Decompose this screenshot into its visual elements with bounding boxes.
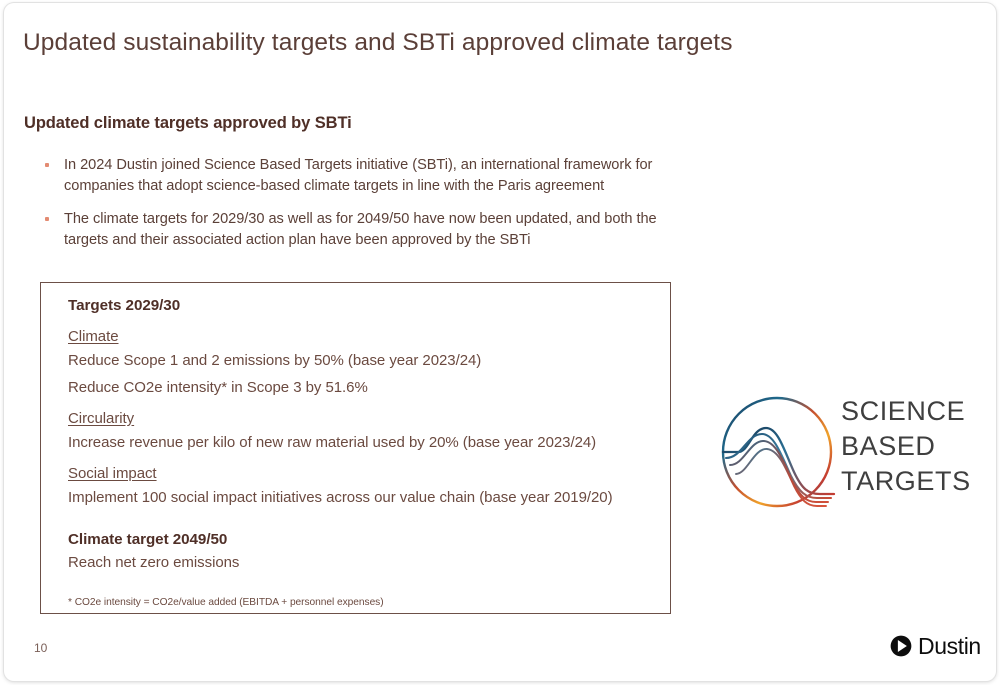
page-title: Updated sustainability targets and SBTi … (23, 29, 733, 57)
sbti-word-line-2: BASED (841, 429, 971, 464)
sbti-mark-icon (716, 388, 838, 516)
circularity-label: Circularity (68, 410, 134, 427)
social-impact-target-1: Implement 100 social impact initiatives … (68, 489, 660, 506)
page-number: 10 (34, 641, 47, 655)
targets-box-content: Targets 2029/30 Climate Reduce Scope 1 a… (68, 289, 660, 571)
bullet-list: In 2024 Dustin joined Science Based Targ… (42, 155, 682, 263)
social-impact-label: Social impact (68, 465, 157, 482)
sbti-wordmark: SCIENCE BASED TARGETS (841, 394, 971, 499)
long-term-target-heading: Climate target 2049/50 (68, 531, 660, 548)
long-term-target-1: Reach net zero emissions (68, 554, 660, 571)
dustin-wordmark: Dustin (918, 635, 981, 657)
bullet-text: In 2024 Dustin joined Science Based Targ… (64, 157, 652, 194)
bullet-text: The climate targets for 2029/30 as well … (64, 211, 657, 248)
presentation-slide: Updated sustainability targets and SBTi … (4, 3, 996, 681)
circularity-target-1: Increase revenue per kilo of new raw mat… (68, 434, 660, 451)
climate-target-1: Reduce Scope 1 and 2 emissions by 50% (b… (68, 352, 660, 369)
list-item: In 2024 Dustin joined Science Based Targ… (42, 155, 682, 197)
footnote: * CO2e intensity = CO2e/value added (EBI… (68, 597, 384, 608)
section-heading: Updated climate targets approved by SBTi (24, 114, 352, 133)
sbti-word-line-3: TARGETS (841, 464, 971, 499)
sbti-word-line-1: SCIENCE (841, 394, 971, 429)
bullet-dot-icon (45, 217, 49, 221)
dustin-logo: Dustin (890, 633, 981, 659)
targets-heading: Targets 2029/30 (68, 297, 660, 314)
list-item: The climate targets for 2029/30 as well … (42, 209, 682, 251)
bullet-dot-icon (45, 163, 49, 167)
sbti-logo: SCIENCE BASED TARGETS (716, 388, 966, 516)
targets-box: Targets 2029/30 Climate Reduce Scope 1 a… (40, 282, 671, 614)
climate-target-2: Reduce CO2e intensity* in Scope 3 by 51.… (68, 379, 660, 396)
climate-label: Climate (68, 328, 119, 345)
dustin-play-mark-icon (890, 635, 912, 657)
